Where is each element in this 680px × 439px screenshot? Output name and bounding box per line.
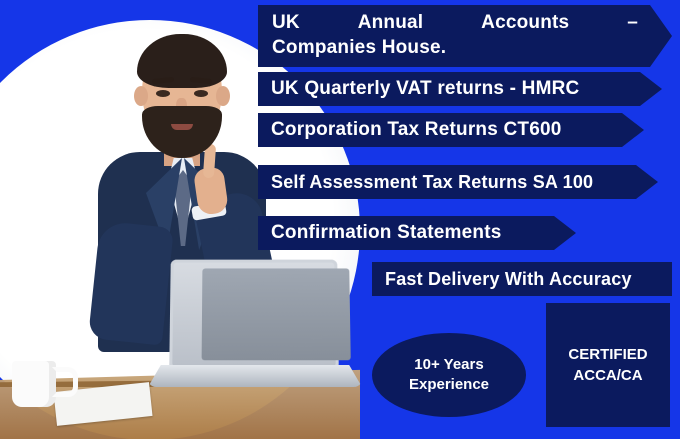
ear-left (134, 86, 148, 106)
badge-experience: 10+ Years Experience (372, 333, 526, 417)
banner-self-assessment: Self Assessment Tax Returns SA 100 (258, 165, 658, 199)
badge-experience-line-2: Experience (409, 375, 489, 395)
laptop-lid (169, 260, 339, 370)
promo-graphic: UK Annual Accounts – Companies House. UK… (0, 0, 680, 439)
banner-line-1: UK Annual Accounts – (272, 10, 638, 35)
banner-word-uk: UK (272, 10, 300, 35)
banner-line-2: Companies House. (272, 35, 638, 60)
banner-uk-quarterly-vat: UK Quarterly VAT returns - HMRC (258, 72, 662, 106)
badge-certified: CERTIFIED ACCA/CA (546, 303, 670, 427)
laptop (148, 259, 368, 409)
mouth (171, 124, 193, 130)
banner-corporation-tax: Corporation Tax Returns CT600 (258, 113, 644, 147)
ear-right (216, 86, 230, 106)
badge-certified-line-1: CERTIFIED (568, 344, 647, 365)
eye-left (156, 90, 170, 97)
laptop-base (148, 365, 362, 387)
banner-word-accounts: Accounts (481, 10, 569, 35)
banner-uk-annual-accounts: UK Annual Accounts – Companies House. (258, 5, 672, 67)
badge-experience-line-1: 10+ Years (414, 355, 483, 375)
hair (137, 34, 227, 88)
eye-right (194, 90, 208, 97)
badge-certified-line-2: ACCA/CA (573, 365, 642, 386)
coffee-mug (12, 361, 56, 407)
banner-fast-delivery: Fast Delivery With Accuracy (372, 262, 672, 296)
banner-word-dash: – (627, 10, 638, 35)
banner-word-annual: Annual (358, 10, 424, 35)
banner-confirmation-statements: Confirmation Statements (258, 216, 576, 250)
coffee-mug-handle (52, 367, 78, 397)
laptop-screen (202, 268, 351, 360)
